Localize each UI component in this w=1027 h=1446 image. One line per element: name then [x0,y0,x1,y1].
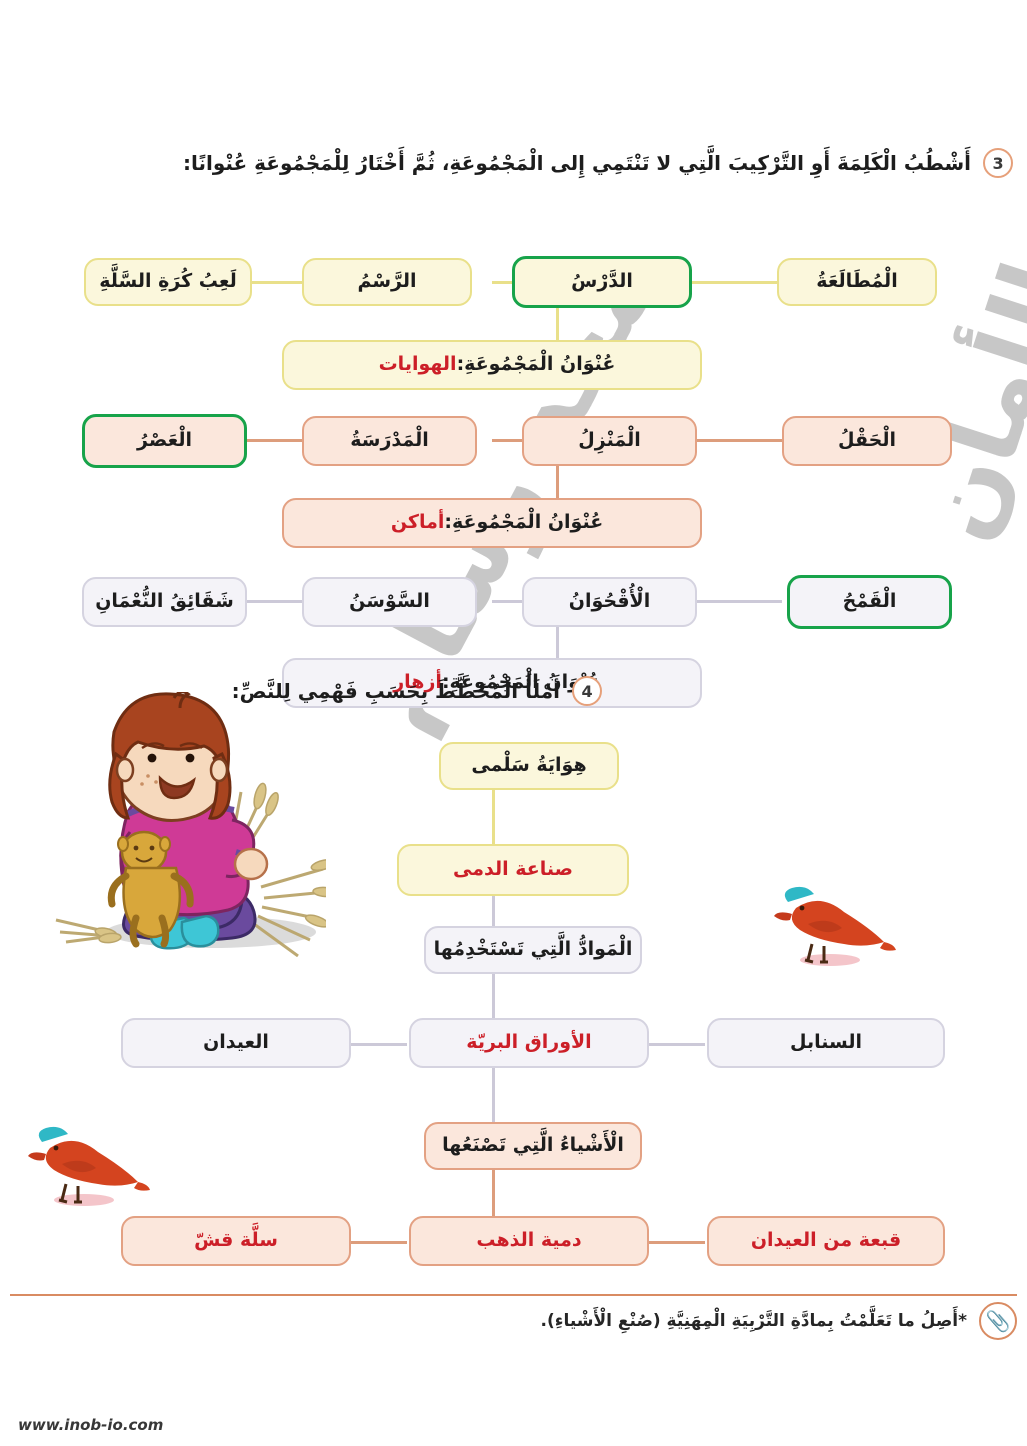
paperclip-icon: 📎 [979,1302,1017,1340]
chip-material-1[interactable]: الأوراق البريّة [409,1018,649,1068]
connector-4-prod-left [649,1241,705,1244]
chip-product-1[interactable]: دمية الذهب [409,1216,649,1266]
connector-4-to-products-label [492,1066,495,1122]
connector-4-mat-right [351,1043,407,1046]
footer-note: 📎 *أَصِلُ ما تَعَلَّمْتُ بِمادَّةِ التَّ… [10,1294,1017,1340]
connector-4-prod-right [351,1241,407,1244]
connector-4-to-materials-row [492,972,495,1020]
exercise-4-diagram: هِوَايَةُ سَلْمى صناعة الدمى الْمَوادُّ … [0,0,1027,1446]
node-hobby-answer[interactable]: صناعة الدمى [397,844,629,896]
chip-product-2[interactable]: قبعة من العيدان [707,1216,945,1266]
chip-material-0[interactable]: العيدان [121,1018,351,1068]
connector-4-to-products-row [492,1168,495,1216]
chip-material-2[interactable]: السنابل [707,1018,945,1068]
node-products-label[interactable]: الْأَشْياءُ الَّتِي تَصْنَعُها [424,1122,642,1170]
chip-product-0[interactable]: سلَّة قشّ [121,1216,351,1266]
node-materials-label[interactable]: الْمَوادُّ الَّتِي تَسْتَخْدِمُها [424,926,642,974]
connector-4-root-stem [492,790,495,844]
footer-note-text: *أَصِلُ ما تَعَلَّمْتُ بِمادَّةِ التَّرْ… [541,1311,967,1331]
connector-4-mat-left [649,1043,705,1046]
node-hobby-label[interactable]: هِوَايَةُ سَلْمى [439,742,619,790]
